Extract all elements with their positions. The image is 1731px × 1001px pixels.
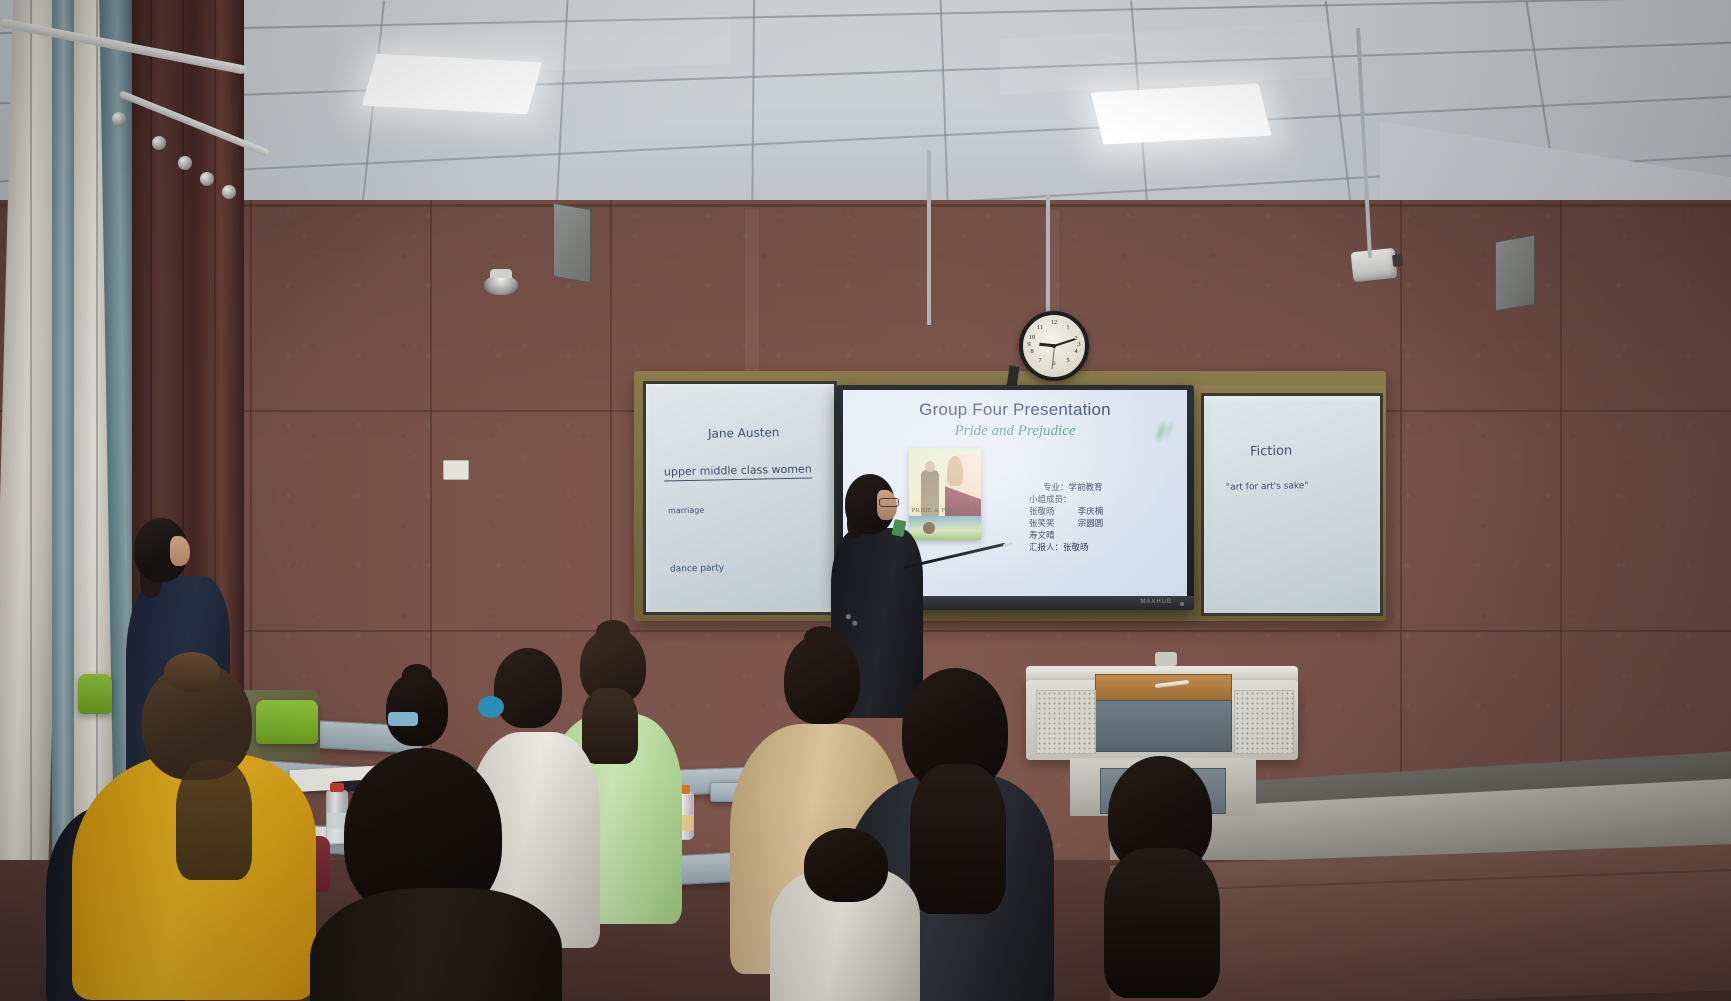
projector-mount-camera-icon (1351, 248, 1398, 282)
whiteboard-note-fiction: Fiction (1250, 444, 1293, 460)
curtain-grommet-icon (112, 112, 126, 126)
wall-switch-plate[interactable] (443, 460, 469, 480)
instructor-face (170, 536, 190, 566)
lectern-speaker-grille-right (1234, 690, 1294, 754)
student-scrunchie-icon (388, 712, 418, 726)
lectern-speaker-grille-left (1036, 690, 1096, 754)
slide-subtitle: Pride and Prejudice (843, 423, 1187, 440)
ceiling-speaker-right (1495, 234, 1535, 311)
whiteboard-note-jane-austen: Jane Austen (708, 425, 780, 440)
student-head (804, 828, 888, 902)
whiteboard-right[interactable]: Fiction "art for art's sake" (1201, 393, 1383, 616)
curtain-grommet-icon (200, 172, 214, 186)
student-hair-bun (596, 620, 630, 644)
bottle-cap (330, 783, 344, 792)
student-ponytail (582, 688, 638, 764)
slide-member-row-1: 张敬旸 李庆楠 (1029, 506, 1179, 518)
slide-member-row-2: 张笑笑 宗圆圆 (1029, 518, 1179, 530)
whiteboard-note-art-for-arts-sake: "art for art's sake" (1226, 481, 1309, 493)
student-hair-length (176, 760, 252, 880)
slide-presenter-line: 汇报人：张敬旸 (1029, 542, 1179, 554)
curtain-grommet-icon (222, 185, 236, 199)
slide-member-row-3: 寿文晴 (1029, 530, 1179, 542)
classroom-chair[interactable] (78, 674, 112, 714)
ceiling-light-panel-left (362, 54, 542, 115)
member-name: 李庆楠 (1078, 506, 1104, 518)
student-head (494, 648, 562, 728)
curtain-grommet-icon (178, 156, 192, 170)
student-hair-length (910, 764, 1006, 914)
student-hair-bun (164, 652, 220, 692)
dome-camera-icon (484, 275, 518, 295)
poster-tree-icon (923, 522, 935, 534)
clock-numeral-11: 11 (1009, 324, 1071, 331)
member-name: 张笑笑 (1029, 518, 1075, 530)
clock-center-pin (1052, 344, 1056, 348)
curtain-grommet-icon (152, 136, 166, 150)
slide-members-label: 小组成员： (1029, 494, 1179, 506)
presenter-hoodie-print (843, 610, 861, 632)
ceiling-speaker-left (553, 203, 591, 284)
movie-poster-image: PRIDE & PREJUDICE (909, 448, 981, 540)
instructor-head (134, 518, 188, 582)
display-brand-label: MAXHUB (1140, 599, 1172, 605)
wall-clock: 12 1 2 3 4 5 6 7 8 9 10 11 (1019, 311, 1089, 381)
classroom-photo: Jane Austen upper middle class women mar… (0, 0, 1731, 1001)
slide-credits-block: 专业：学前教育 小组成员： 张敬旸 李庆楠 张笑笑 宗圆圆 寿文晴 汇报人：张敬… (1029, 482, 1179, 554)
lectern-microphone-icon (1155, 652, 1177, 666)
lectern-wood-surface (1095, 674, 1232, 702)
student-hair-length (1104, 848, 1220, 998)
member-name: 寿文晴 (1029, 530, 1075, 542)
member-name: 张敬旸 (1029, 506, 1075, 518)
member-name: 宗圆圆 (1078, 518, 1104, 530)
student-torso (310, 888, 562, 1001)
classroom-chair[interactable] (256, 700, 318, 744)
slide-title: Group Four Presentation (843, 400, 1187, 420)
hanging-rod-left (927, 150, 931, 325)
whiteboard-note-dance-party: dance party (670, 563, 724, 574)
presenter-glasses-icon (879, 498, 899, 507)
display-power-led-icon (1180, 602, 1184, 606)
poster-landscape-strip (909, 516, 981, 540)
student-hair-bun (402, 664, 432, 686)
clock-numeral-10: 10 (1001, 334, 1063, 341)
student-hair-bun (804, 626, 840, 650)
whiteboard-left[interactable]: Jane Austen upper middle class women mar… (643, 381, 837, 615)
slide-major-line: 专业：学前教育 (1029, 482, 1179, 494)
ceiling-light-panel-right (1091, 84, 1272, 145)
whiteboard-note-marriage: marriage (668, 506, 704, 516)
presenter-head (845, 474, 895, 534)
lectern-control-panel[interactable] (1095, 700, 1232, 752)
whiteboard-note-upper-middle-class: upper middle class women (664, 462, 812, 481)
student-hair-tie-icon (478, 696, 504, 718)
poster-caption: PRIDE & PREJUDICE (909, 507, 981, 514)
clock-numeral-7: 7 (1009, 357, 1071, 364)
